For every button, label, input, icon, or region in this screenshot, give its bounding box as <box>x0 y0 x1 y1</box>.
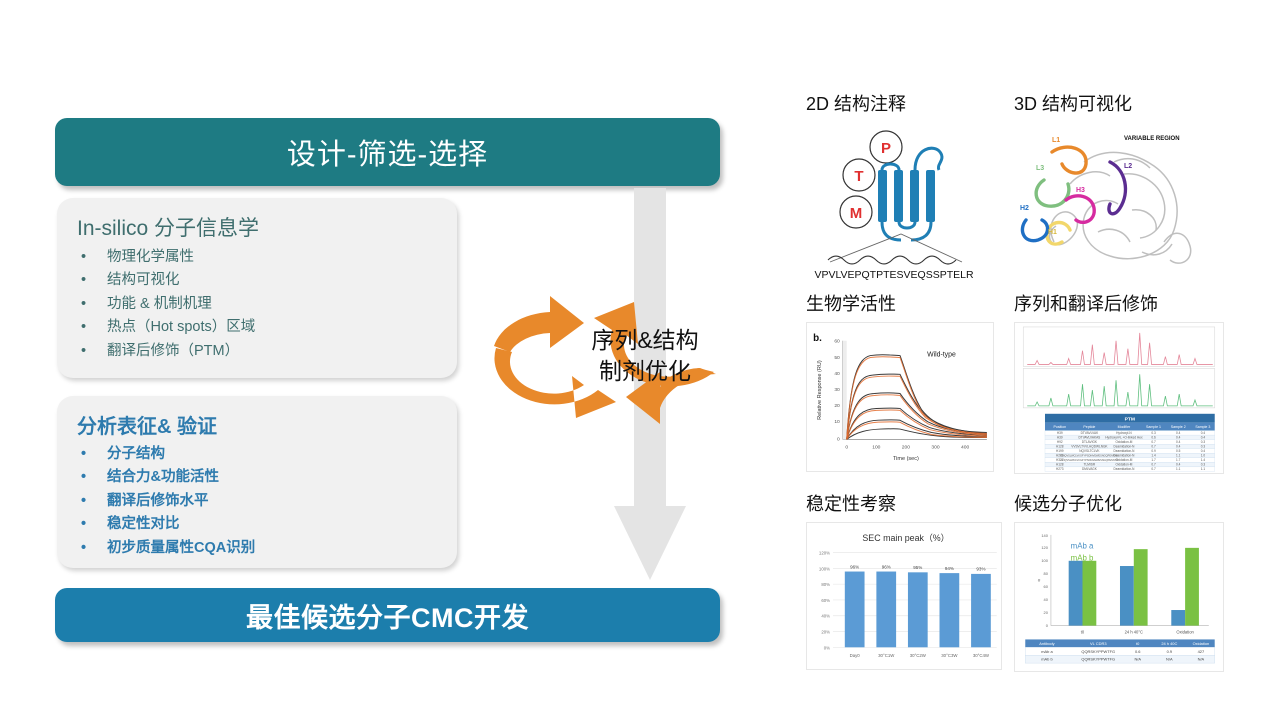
table-cell: H39 <box>1057 431 1063 435</box>
table-cell: QQRSKYPPWTFG <box>1081 649 1115 654</box>
bar-mab-a-t0 <box>1069 561 1083 626</box>
bullet-icon: • <box>77 537 107 560</box>
axis-tick-label: 30°C2W <box>910 653 927 658</box>
bar-value-label: 96% <box>850 564 859 569</box>
slide-canvas: 设计-筛选-选择 In-silico 分子信息学 •物理化学属性 •结构可视化 … <box>0 0 1280 720</box>
table-cell: TLMISR <box>1084 463 1096 467</box>
ptm-col-position: Position <box>1053 425 1066 429</box>
table-cell: 0.5 <box>1176 449 1181 453</box>
bar-mab-a-24h <box>1120 566 1134 626</box>
list-item: •翻译后修饰水平 <box>77 490 437 513</box>
svg-text:300: 300 <box>931 444 939 450</box>
table-cell: 0.7 <box>1151 463 1156 467</box>
bar <box>908 572 928 647</box>
card-analytical-title: 分析表征& 验证 <box>77 410 437 439</box>
opt-table-row <box>1025 647 1214 655</box>
table-header-cell: VL CDR3 <box>1090 641 1107 646</box>
panel-stability-title: 稳定性考察 <box>806 490 1002 516</box>
table-cell: Deamidation-N <box>1113 454 1135 458</box>
table-cell: 0.4 <box>1176 463 1181 467</box>
panel-2d-structure-title: 2D 结构注释 <box>806 90 982 116</box>
table-cell: mAb a <box>1041 649 1053 654</box>
ptm-image: PTM Position Peptide Modifier Sample 1 S… <box>1014 322 1224 474</box>
list-item-label: 功能 & 机制机理 <box>107 293 212 316</box>
table-cell: H92 <box>1057 440 1063 444</box>
header-title: 设计-筛选-选择 <box>287 131 488 173</box>
card-analytical-characterization: 分析表征& 验证 •分子结构 •结合力&功能活性 •翻译后修饰水平 •稳定性对比… <box>57 396 457 568</box>
svg-text:80%: 80% <box>821 582 830 587</box>
spr-sensorgram-chart: b. 605040 302010 0 0100200 300400 Time (… <box>806 322 994 472</box>
panel-candidate-optimization: 候选分子优化 0 20 40 60 80 100 120 140 # mAb a… <box>1014 490 1224 672</box>
table-cell: 1.4 <box>1151 454 1156 458</box>
sec-main-peak-chart: SEC main peak（%） 0% 20% 40% 60% 80% 100%… <box>806 522 1002 670</box>
ptm-table-title: PTM <box>1125 416 1135 422</box>
table-cell: 1.4 <box>1201 458 1206 462</box>
svg-text:40: 40 <box>834 371 840 377</box>
list-item: •分子结构 <box>77 443 437 466</box>
list-item: •物理化学属性 <box>77 246 437 269</box>
ptm-circle-t-label: T <box>854 168 863 185</box>
cdr-label-l1: L1 <box>1052 137 1060 144</box>
table-cell: Oxidation-M <box>1115 440 1132 444</box>
table-cell: H199 <box>1056 449 1064 453</box>
table-cell: H128 <box>1056 445 1064 449</box>
bar-value-label: 96% <box>882 564 891 569</box>
table-cell: 0.3 <box>1201 463 1206 467</box>
phase-header-design-screen-select: 设计-筛选-选择 <box>55 118 720 186</box>
svg-text:40%: 40% <box>821 614 830 619</box>
axis-tick-label: 24 h 40°C <box>1125 630 1143 635</box>
phase-footer-cmc-development: 最佳候选分子CMC开发 <box>55 588 720 642</box>
panel-3d-structure: 3D 结构可视化 <box>1014 90 1200 280</box>
bullet-icon: • <box>77 340 107 363</box>
table-cell: N/A <box>1198 657 1205 662</box>
table-cell: QQRSKYPPWTFG <box>1081 657 1115 662</box>
axis-tick-label: 30°C4W <box>973 653 990 658</box>
table-cell: Hydroxyl-N <box>1116 431 1132 435</box>
cdr-label-l2: L2 <box>1124 163 1132 170</box>
bar <box>876 572 896 648</box>
bullet-icon: • <box>77 490 107 513</box>
ptm-circle-m-label: M <box>850 205 863 222</box>
cycle-label: 序列&结构 制剂优化 <box>555 325 735 387</box>
list-item-label: 热点（Hot spots）区域 <box>107 316 255 339</box>
svg-text:0: 0 <box>845 444 848 450</box>
ptm-col-sample2: Sample 2 <box>1171 425 1186 429</box>
svg-text:100: 100 <box>872 444 880 450</box>
list-item: •结合力&功能活性 <box>77 466 437 489</box>
table-cell: 1.1 <box>1201 467 1206 471</box>
bullet-icon: • <box>77 293 107 316</box>
ptm-col-modifier: Modifier <box>1118 425 1131 429</box>
panel-3d-structure-title: 3D 结构可视化 <box>1014 90 1200 116</box>
panel-stability: 稳定性考察 SEC main peak（%） 0% 20% 40% 60% 80… <box>806 490 1002 670</box>
table-cell: 0.4 <box>1176 440 1181 444</box>
table-header-cell: Oxidation <box>1193 641 1210 646</box>
cdr-label-h1: H1 <box>1048 229 1057 236</box>
bullet-icon: • <box>77 269 107 292</box>
bar-value-label: 95% <box>913 565 922 570</box>
table-cell: mAb b <box>1041 657 1053 662</box>
svg-text:100%: 100% <box>819 566 830 571</box>
table-cell: DTVAVLVAK <box>1081 431 1099 435</box>
panel-sequence-ptm-title: 序列和翻译后修饰 <box>1014 290 1224 316</box>
table-cell: 1.1 <box>1176 467 1181 471</box>
svg-text:0%: 0% <box>824 645 830 650</box>
svg-text:200: 200 <box>902 444 910 450</box>
panel-bioactivity: 生物学活性 b. 605040 302010 0 0100200 300400 … <box>806 290 994 472</box>
opt-table-row <box>1025 655 1214 663</box>
bar <box>940 573 960 647</box>
bullet-icon: • <box>77 513 107 536</box>
ptm-col-peptide: Peptide <box>1083 425 1095 429</box>
list-item-label: 翻译后修饰水平 <box>107 490 209 513</box>
bar-mab-b-24h <box>1134 549 1148 625</box>
list-item-label: 分子结构 <box>107 443 165 466</box>
list-item-label: 翻译后修饰（PTM） <box>107 340 239 363</box>
list-item-label: 结合力&功能活性 <box>107 466 219 489</box>
opt-legend-mab-a: mAb a <box>1071 542 1094 551</box>
table-cell: 1.7 <box>1151 458 1156 462</box>
svg-text:20%: 20% <box>821 629 830 634</box>
table-cell: N/A <box>1166 657 1173 662</box>
variable-region-label: VARIABLE REGION <box>1124 136 1180 142</box>
bar <box>845 572 865 648</box>
bullet-icon: • <box>77 443 107 466</box>
table-cell: 427 <box>1198 649 1205 654</box>
table-cell: 1.7 <box>1176 458 1181 462</box>
table-cell: 0.3 <box>1151 431 1156 435</box>
table-cell: 0.6 <box>1135 649 1141 654</box>
table-cell: H128 <box>1056 463 1064 467</box>
table-cell: H273 <box>1056 467 1064 471</box>
table-cell: DTLAVIGK <box>1082 440 1098 444</box>
table-cell: NQVSLTCLVK <box>1079 449 1100 453</box>
axis-tick-label: Day0 <box>850 653 861 658</box>
panel-sequence-ptm: 序列和翻译后修饰 PTM Position Peptide Modifier S… <box>1014 290 1224 474</box>
table-cell: 0.4 <box>1201 431 1206 435</box>
cycle-label-line1: 序列&结构 <box>555 325 735 356</box>
bar-value-label: 93% <box>976 567 985 572</box>
svg-text:20: 20 <box>834 403 840 409</box>
sec-chart-title: SEC main peak（%） <box>862 533 949 543</box>
svg-text:120%: 120% <box>819 551 830 556</box>
table-cell: 0.7 <box>1151 467 1156 471</box>
chromatogram-top-frame <box>1023 327 1214 366</box>
card-in-silico-title: In-silico 分子信息学 <box>77 212 437 242</box>
table-cell: 0.4 <box>1176 435 1181 439</box>
cdr-label-h2: H2 <box>1020 205 1029 212</box>
table-header-cell: Antibody <box>1039 641 1054 646</box>
footer-title: 最佳候选分子CMC开发 <box>246 596 529 635</box>
table-cell: Hydroxyl-N, +O-linked Hex <box>1105 435 1143 439</box>
table-cell: GNQVSLWCLVKGFYPSDIAVEWESNGQPENNYK <box>1061 458 1119 462</box>
svg-text:400: 400 <box>961 444 969 450</box>
spr-x-axis-label: Time (sec) <box>893 456 919 462</box>
cdr-label-h3: H3 <box>1076 187 1085 194</box>
table-cell: Deamidation-N <box>1113 467 1135 471</box>
candidate-optimization-chart: 0 20 40 60 80 100 120 140 # mAb a mAb b <box>1014 522 1224 672</box>
cycle-label-line2: 制剂优化 <box>555 356 735 387</box>
spr-annotation-wild-type: Wild-type <box>927 352 956 359</box>
bullet-icon: • <box>77 466 107 489</box>
ptm-col-sample3: Sample 3 <box>1195 425 1210 429</box>
cdr-label-l3: L3 <box>1036 165 1044 172</box>
table-cell: 0.6 <box>1151 435 1156 439</box>
svg-text:60: 60 <box>834 339 840 345</box>
table-cell: VVSVLTVVLHQDWLNGK <box>1071 445 1108 449</box>
table-cell: Deamidation-N <box>1113 445 1135 449</box>
svg-text:60%: 60% <box>821 598 830 603</box>
table-cell: 0.3 <box>1201 440 1206 444</box>
axis-tick-label: Oxidation <box>1176 630 1194 635</box>
svg-text:30: 30 <box>834 387 840 393</box>
card-in-silico: In-silico 分子信息学 •物理化学属性 •结构可视化 •功能 & 机制机… <box>57 198 457 378</box>
table-header-cell: 24 h 40C <box>1161 641 1177 646</box>
card-analytical-list: •分子结构 •结合力&功能活性 •翻译后修饰水平 •稳定性对比 •初步质量属性C… <box>77 443 437 560</box>
bar-mab-b-t0 <box>1082 561 1096 626</box>
table-cell: 0.4 <box>1201 435 1206 439</box>
table-cell: H39 <box>1057 435 1063 439</box>
svg-text:100: 100 <box>1041 558 1048 563</box>
axis-tick-label: 30°C3W <box>941 653 958 658</box>
bullet-icon: • <box>77 246 107 269</box>
table-cell: 0.3 <box>1201 445 1206 449</box>
table-cell: DMLVAGK <box>1082 467 1098 471</box>
ptm-col-sample1: Sample 1 <box>1146 425 1161 429</box>
table-cell: 1.0 <box>1201 454 1206 458</box>
list-item-label: 初步质量属性CQA识别 <box>107 537 255 560</box>
table-cell: 0.9 <box>1167 649 1172 654</box>
spr-panel-label: b. <box>813 333 822 344</box>
table-cell: 1.1 <box>1176 454 1181 458</box>
list-item-label: 结构可视化 <box>107 269 180 292</box>
svg-text:50: 50 <box>834 355 840 361</box>
svg-text:140: 140 <box>1041 533 1048 538</box>
panel-2d-structure: 2D 结构注释 P T M <box>806 90 982 284</box>
table-cell: DTVAVLVAKAS <box>1079 435 1101 439</box>
bar-mab-a-oxidation <box>1171 610 1185 626</box>
table-cell: Oxidation-M <box>1115 463 1132 467</box>
list-item: •热点（Hot spots）区域 <box>77 316 437 339</box>
table-cell: Deamidation-N <box>1113 449 1135 453</box>
svg-text:10: 10 <box>834 419 840 425</box>
table-cell: 0.4 <box>1201 449 1206 453</box>
svg-text:120: 120 <box>1041 545 1048 550</box>
card-in-silico-list: •物理化学属性 •结构可视化 •功能 & 机制机理 •热点（Hot spots）… <box>77 246 437 363</box>
list-item: •初步质量属性CQA识别 <box>77 537 437 560</box>
list-item: •功能 & 机制机理 <box>77 293 437 316</box>
table-cell: GNQVSLWCLVKGFYPSDIAVEWESNGQPENNYK <box>1061 454 1119 458</box>
spr-injection-marker <box>843 341 847 440</box>
panel-candidate-optimization-title: 候选分子优化 <box>1014 490 1224 516</box>
panel-bioactivity-title: 生物学活性 <box>806 290 994 316</box>
2d-structure-image: P T M VPVLVEPQTPTESVEQSSPTELR <box>806 122 982 284</box>
bar <box>971 574 991 647</box>
svg-text:0: 0 <box>837 436 840 442</box>
3d-structure-image: L1 L2 L3 H1 H2 H3 VARIABLE REGION <box>1014 122 1200 280</box>
table-cell: 0.4 <box>1176 445 1181 449</box>
spr-y-axis-label: Relative Response (RU) <box>817 360 823 420</box>
table-cell: 0.7 <box>1151 440 1156 444</box>
list-item: •翻译后修饰（PTM） <box>77 340 437 363</box>
table-cell: Oxidation-M <box>1115 458 1132 462</box>
list-item-label: 物理化学属性 <box>107 246 194 269</box>
bar-value-label: 94% <box>945 566 954 571</box>
table-cell: N/A <box>1134 657 1141 662</box>
bullet-icon: • <box>77 316 107 339</box>
list-item: •结构可视化 <box>77 269 437 292</box>
bar-mab-b-oxidation <box>1185 548 1199 626</box>
axis-tick-label: 30°C1W <box>878 653 895 658</box>
list-item-label: 稳定性对比 <box>107 513 180 536</box>
table-cell: 0.7 <box>1151 445 1156 449</box>
peptide-sequence-label: VPVLVEPQTPTESVEQSSPTELR <box>814 269 974 281</box>
ptm-circle-p-label: P <box>881 140 891 157</box>
table-cell: 0.9 <box>1151 449 1156 453</box>
list-item: •稳定性对比 <box>77 513 437 536</box>
table-cell: 0.4 <box>1176 431 1181 435</box>
